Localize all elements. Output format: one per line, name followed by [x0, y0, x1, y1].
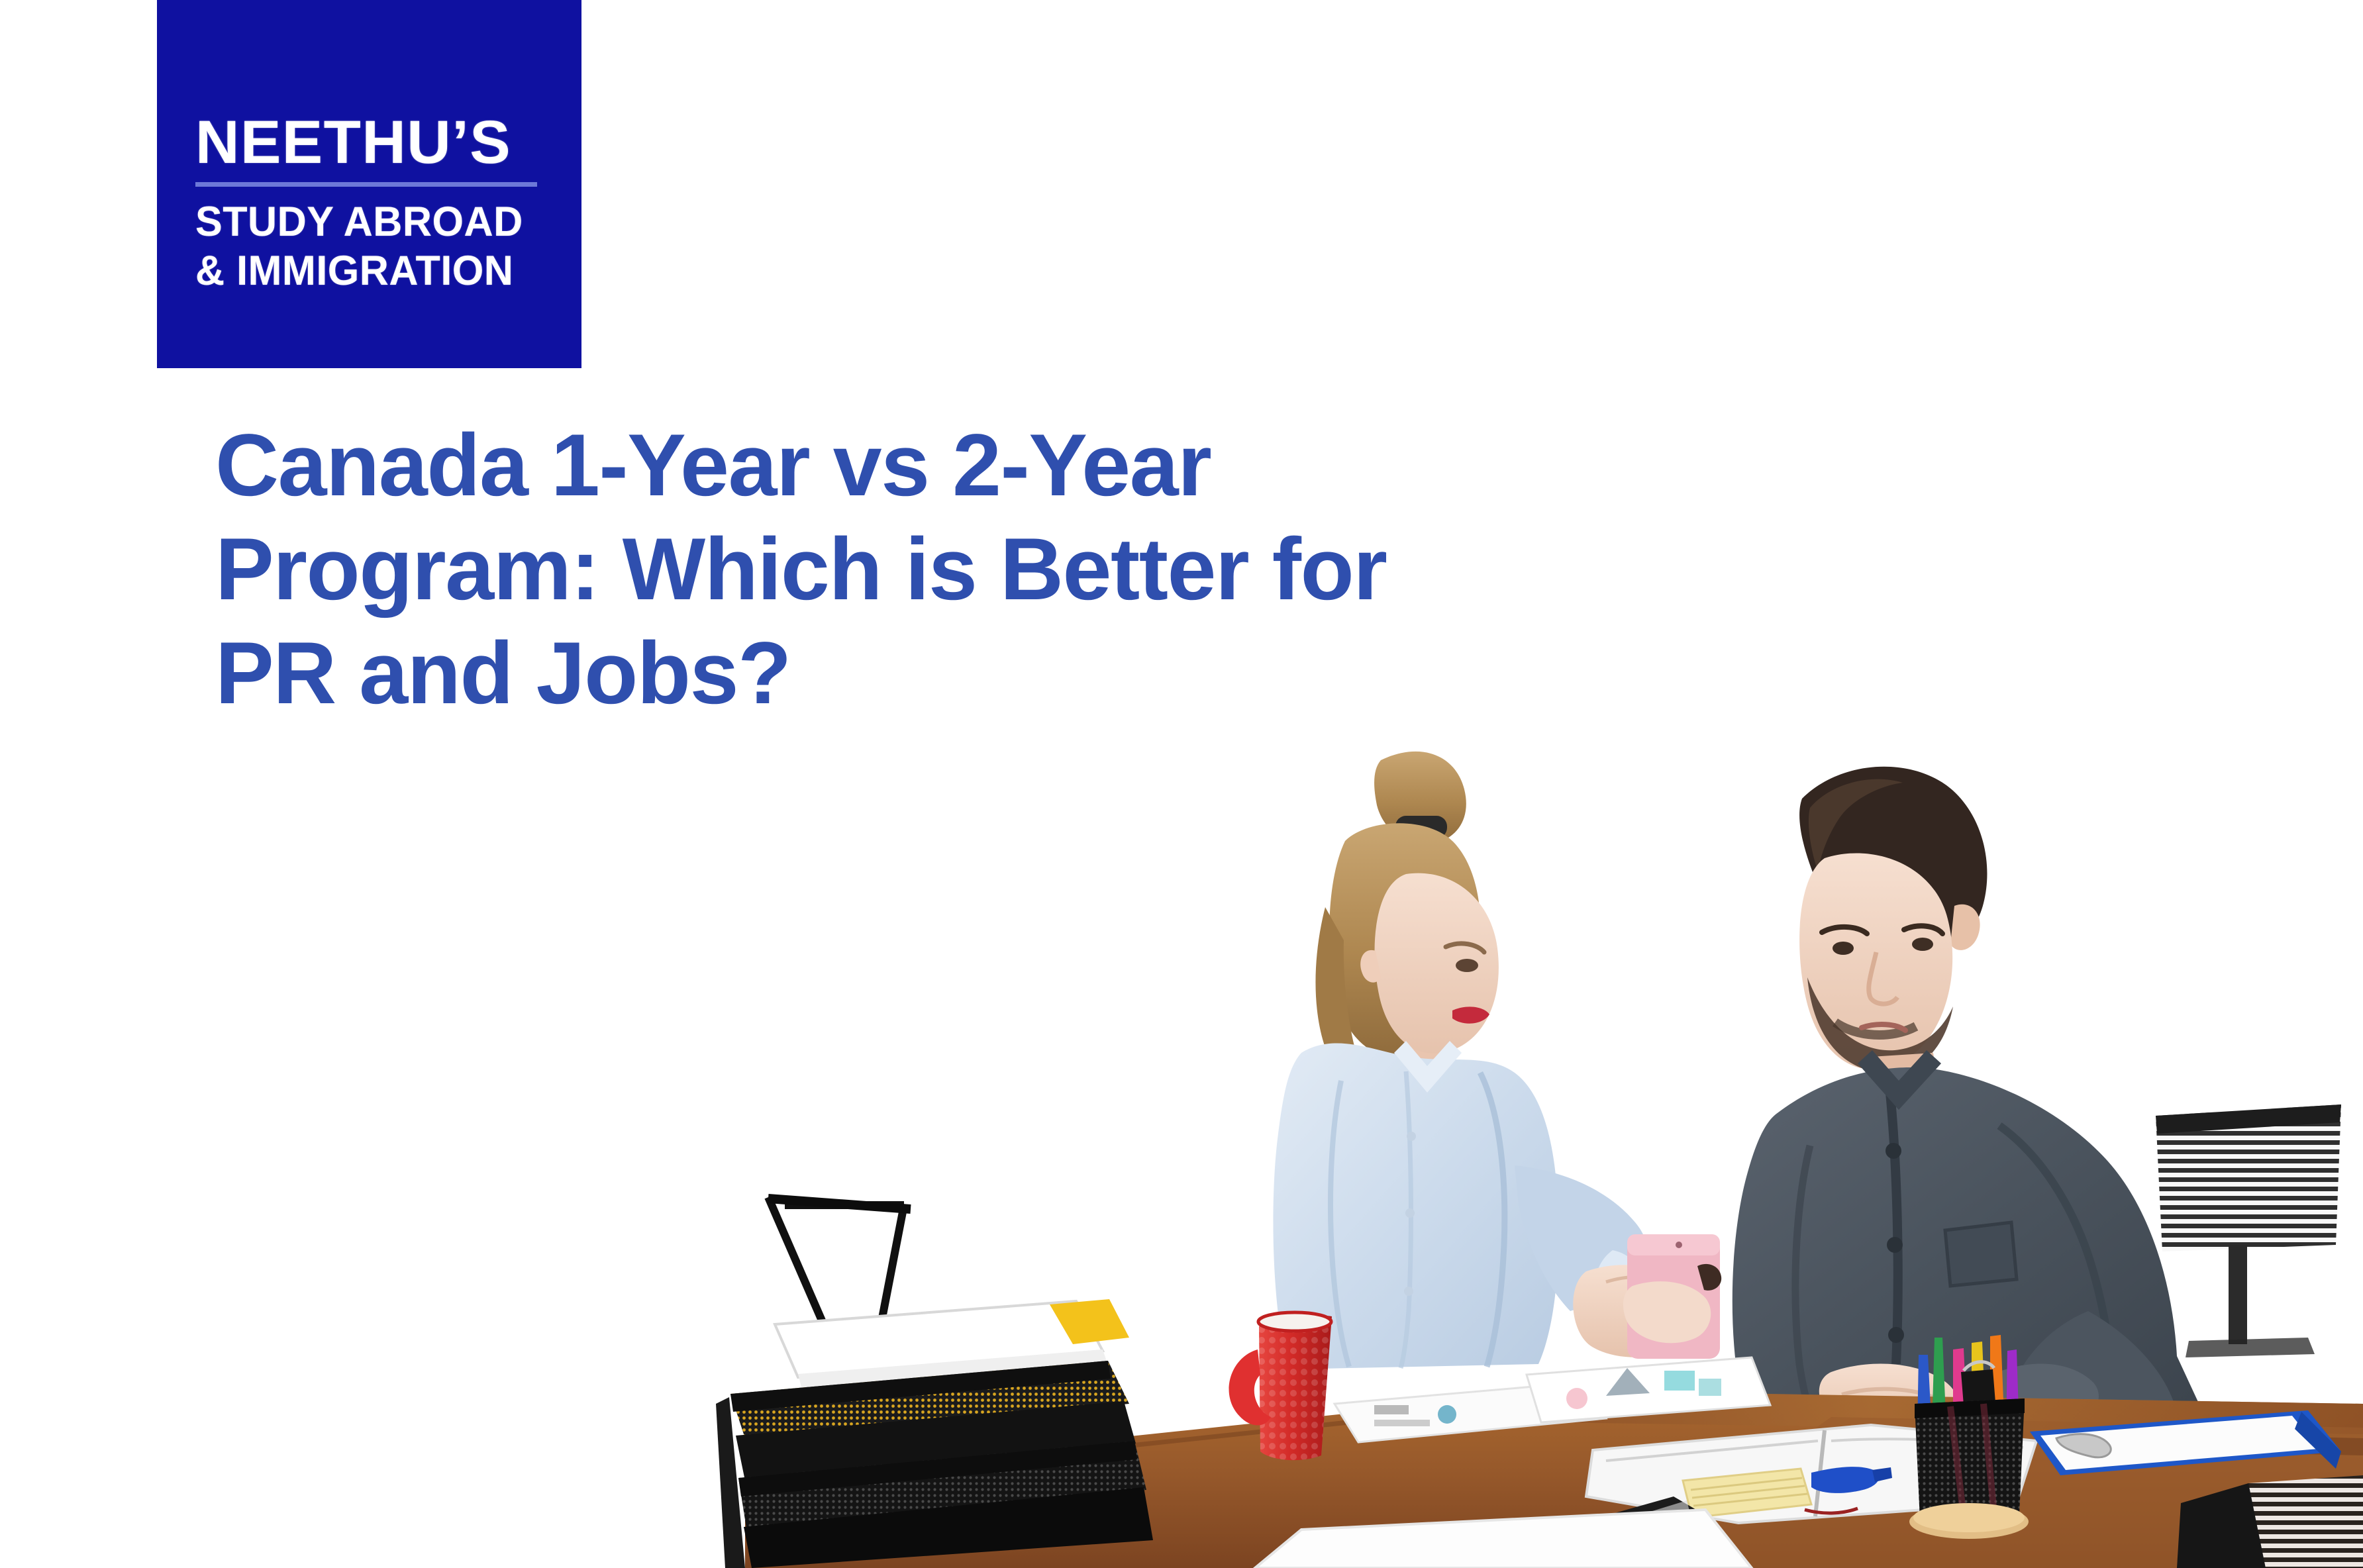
hero-photo: [705, 742, 2363, 1568]
hero-photo-illustration: [705, 742, 2363, 1568]
page-title: Canada 1-Year vs 2-Year Program: Which i…: [215, 414, 1738, 726]
logo-tagline-line2: & IMMIGRATION: [195, 246, 529, 295]
page-title-line-2: Program: Which is Better for: [215, 518, 1738, 622]
logo-brand-name: NEETHU’S: [195, 109, 540, 175]
banner-canvas: NEETHU’S STUDY ABROAD & IMMIGRATION Cana…: [0, 0, 2363, 1568]
page-title-line-3: PR and Jobs?: [215, 622, 1738, 726]
logo-tagline-line1: STUDY ABROAD: [195, 197, 529, 246]
brand-logo: NEETHU’S STUDY ABROAD & IMMIGRATION: [157, 0, 581, 368]
page-title-line-1: Canada 1-Year vs 2-Year: [215, 414, 1738, 518]
logo-text-block: NEETHU’S STUDY ABROAD & IMMIGRATION: [195, 109, 540, 308]
logo-divider-rule: [195, 182, 537, 187]
pen-cup: [1909, 1335, 2029, 1539]
